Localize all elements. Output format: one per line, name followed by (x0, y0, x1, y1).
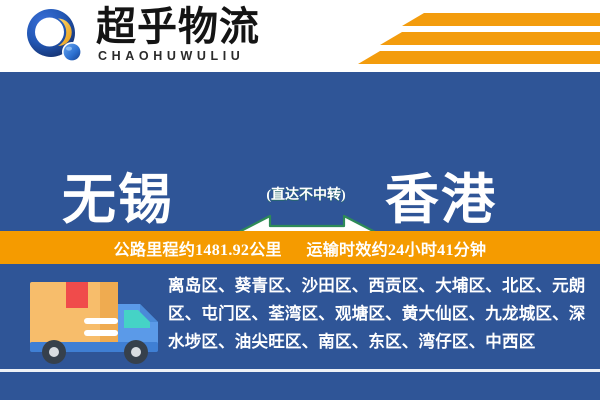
coverage-section: 离岛区、葵青区、沙田区、西贡区、大埔区、北区、元朗区、屯门区、荃湾区、观塘区、黄… (0, 264, 600, 400)
destination-city: 香港 (385, 173, 497, 227)
distance-text: 公路里程约1481.92公里 (114, 242, 282, 259)
brand-lockup: 超乎物流 CHAOHUWULIU (96, 5, 306, 67)
info-bar-content: 公路里程约1481.92公里 运输时效约24小时41分钟 (114, 236, 487, 260)
delivery-truck-icon (28, 276, 174, 372)
speed-stripes-icon (350, 6, 600, 68)
brand-name-en: CHAOHUWULIU (96, 49, 306, 63)
circle-q-logo-icon (24, 8, 86, 66)
covered-districts-text: 离岛区、葵青区、沙田区、西贡区、大埔区、北区、元朗区、屯门区、荃湾区、观塘区、黄… (168, 272, 592, 356)
route-band: 无锡 (直达不中转) 【往返运输】 香港 (0, 72, 600, 231)
banner-header: 超乎物流 CHAOHUWULIU (0, 0, 600, 72)
stripe-2 (380, 32, 600, 45)
bottom-divider (0, 369, 600, 372)
route-info-bar: 公路里程约1481.92公里 运输时效约24小时41分钟 (0, 231, 600, 264)
duration-text: 运输时效约24小时41分钟 (306, 242, 486, 259)
brand-name-cn: 超乎物流 (96, 5, 306, 49)
stripe-3 (358, 51, 600, 64)
direct-shipping-note: (直达不中转) (240, 184, 372, 204)
logistics-route-banner: 超乎物流 CHAOHUWULIU 无锡 (直达不中转) 【往返运输】 香港 公路… (0, 0, 600, 400)
stripe-1 (402, 13, 600, 26)
origin-city: 无锡 (62, 173, 174, 227)
